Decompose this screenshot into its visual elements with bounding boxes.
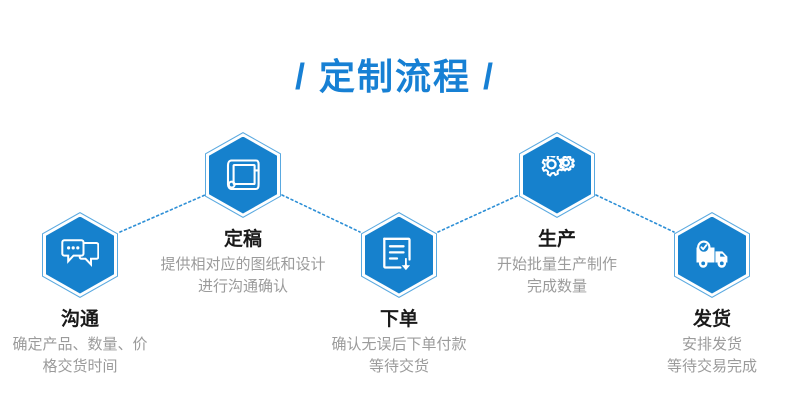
customization-flow-infographic: / 定制流程 / 沟通 确定产品、数量 [0,0,790,408]
delivery-truck-icon [692,239,732,271]
page-title: / 定制流程 / [0,52,790,102]
gears-icon [537,156,577,194]
step-1-title: 沟通 [0,307,200,332]
step-3-title: 下单 [279,307,519,332]
step-4-hexagon[interactable] [519,132,595,218]
step-5-description: 安排发货 等待交易完成 [592,334,790,378]
step-3-hexagon[interactable] [361,212,437,298]
flow-step-5[interactable]: 发货 安排发货 等待交易完成 [592,212,790,378]
step-5-hexagon[interactable] [674,212,750,298]
blueprint-scroll-icon [225,158,261,192]
step-1-description: 确定产品、数量、价 格交货时间 [0,334,200,378]
step-3-description: 确认无误后下单付款 等待交货 [279,334,519,378]
chat-bubbles-icon [61,239,99,271]
step-2-hexagon[interactable] [205,132,281,218]
document-download-icon [382,237,416,273]
step-5-title: 发货 [592,307,790,332]
step-1-hexagon[interactable] [42,212,118,298]
